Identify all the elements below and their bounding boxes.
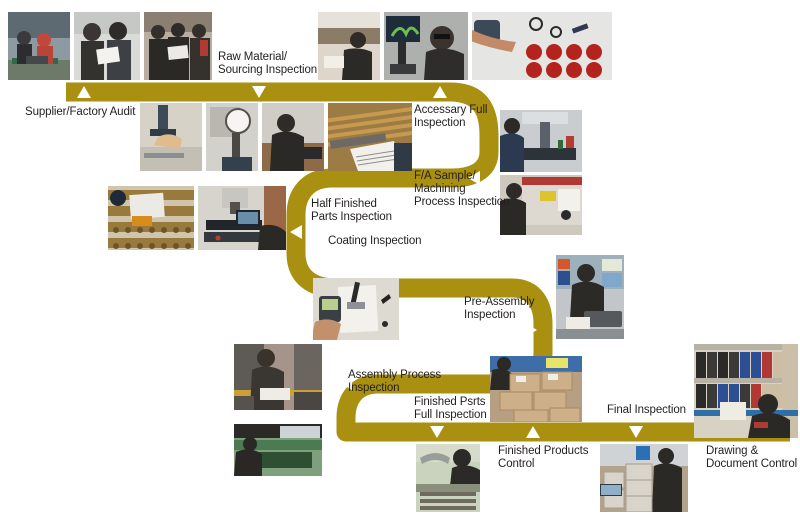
inspection-flow-diagram: Supplier/Factory Audit Raw Material/ Sou… [0,0,800,525]
photo-acc-projector [206,103,258,171]
photo-acc-caliper [140,103,202,171]
photo-raw-red-parts [472,12,612,80]
photo-products-control [416,444,480,512]
label-final-inspection: Final Inspection [607,404,686,417]
photo-acc-operator [262,103,324,171]
label-pre-assembly-inspection: Pre-Assembly Inspection [464,296,534,322]
photo-fa-cmm [500,110,582,172]
label-assembly-process-inspection: Assembly Process Inspection [348,369,441,395]
photo-raw-measuring [318,12,380,80]
label-fa-sample-machining: F/A Sample/ Machining Process Inspection [414,170,509,210]
photo-audit-review [74,12,140,80]
label-accessary-full-inspection: Accessary Full Inspection [414,104,487,130]
photo-acc-brass-rods [328,103,412,171]
photo-assembly-tray [234,424,322,476]
photo-preassembly-bins [556,255,624,339]
photo-finished-cartons [490,356,582,422]
photo-raw-microscope [384,12,468,80]
label-raw-material-sourcing: Raw Material/ Sourcing Inspection [218,51,317,77]
label-half-finished-parts: Half Finished Parts Inspection [311,198,392,224]
photo-audit-workshop [8,12,70,80]
photo-audit-team [144,12,212,80]
photo-half-vision [198,186,286,250]
label-finished-products-control: Finished Products Control [498,445,588,471]
photo-coating-gauge [313,278,399,340]
photo-final-cartons [600,444,688,512]
label-coating-inspection: Coating Inspection [328,235,421,248]
label-finished-parts-full: Finished Psrts Full Inspection [414,396,487,422]
photo-half-trays [108,186,194,250]
photo-document-control [694,344,798,438]
label-drawing-document-control: Drawing & Document Control [706,445,797,471]
photo-fa-machine [500,175,582,235]
label-supplier-factory-audit: Supplier/Factory Audit [25,106,135,119]
photo-assembly-bench [234,344,322,410]
